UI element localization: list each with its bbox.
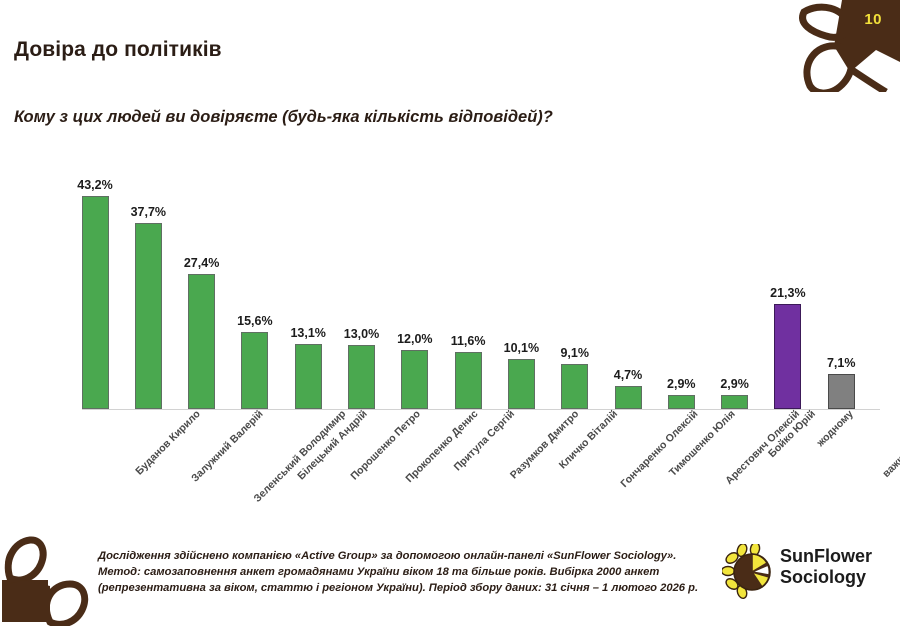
bar[interactable] xyxy=(668,395,695,409)
bar-group: 13,0% xyxy=(339,345,385,409)
bar[interactable] xyxy=(295,344,322,409)
x-axis-label: Буданов Кирило xyxy=(133,408,203,478)
sunflower-sociology-logo: SunFlower Sociology xyxy=(722,542,894,604)
bar-group: 4,7% xyxy=(605,386,651,409)
bar-group: 13,1% xyxy=(285,344,331,409)
logo-line-1: SunFlower xyxy=(780,546,872,567)
bar-group: 27,4% xyxy=(179,274,225,409)
bar-group: 2,9% xyxy=(712,395,758,409)
x-axis-label: важко відповісти xyxy=(880,408,900,480)
logo-line-2: Sociology xyxy=(780,567,872,588)
sunflower-icon xyxy=(722,544,778,600)
bar-group: 21,3% xyxy=(765,304,811,409)
bar[interactable] xyxy=(508,359,535,409)
page-title: Довіра до політиків xyxy=(14,38,222,62)
methodology-line-1: Дослідження здійснено компанією «Active … xyxy=(98,549,713,565)
methodology-line-2: Метод: самозаповнення анкет громадянами … xyxy=(98,565,713,581)
bar-group: 15,6% xyxy=(232,332,278,409)
bar-value-label: 9,1% xyxy=(542,346,608,360)
bar[interactable] xyxy=(828,374,855,409)
methodology-line-3: (репрезентативна за віком, статтю і регі… xyxy=(98,581,713,597)
bar[interactable] xyxy=(455,352,482,409)
bar[interactable] xyxy=(135,223,162,409)
bar-value-label: 21,3% xyxy=(755,286,821,300)
methodology-note: Дослідження здійснено компанією «Active … xyxy=(98,549,713,597)
chart-question-subtitle: Кому з цих людей ви довіряєте (будь-яка … xyxy=(14,108,553,127)
bar[interactable] xyxy=(82,196,109,409)
chart-plot-area: 43,2%37,7%27,4%15,6%13,1%13,0%12,0%11,6%… xyxy=(60,148,890,410)
bar-value-label: 2,9% xyxy=(702,377,768,391)
page-number: 10 xyxy=(864,11,882,28)
bar-group: 10,1% xyxy=(498,359,544,409)
x-axis-label: Арестович Олексій xyxy=(723,408,802,487)
x-axis-label: Разумков Дмитро xyxy=(508,408,581,481)
bar-group: 37,7% xyxy=(125,223,171,409)
x-axis-label: Залужний Валерій xyxy=(189,408,265,484)
corner-decoration xyxy=(790,0,900,92)
bar-chart: 43,2%37,7%27,4%15,6%13,1%13,0%12,0%11,6%… xyxy=(0,140,900,410)
bar-value-label: 27,4% xyxy=(169,256,235,270)
bar[interactable] xyxy=(721,395,748,409)
bar-group: 11,6% xyxy=(445,352,491,409)
bar[interactable] xyxy=(188,274,215,409)
x-axis-label: Тимошенко Юлія xyxy=(667,408,738,479)
bar-group: 12,0% xyxy=(392,350,438,409)
bar[interactable] xyxy=(774,304,801,409)
x-axis-label: жодному xyxy=(814,408,855,449)
bar[interactable] xyxy=(241,332,268,409)
x-axis-label: Зеленський Володимир xyxy=(251,408,348,505)
logo-wordmark: SunFlower Sociology xyxy=(780,546,872,588)
bar[interactable] xyxy=(348,345,375,409)
x-axis-category-labels: Буданов КирилоЗалужний ВалерійЗеленський… xyxy=(60,408,900,518)
bar-group: 2,9% xyxy=(658,395,704,409)
bottom-left-decoration xyxy=(0,530,100,626)
bar-group: 9,1% xyxy=(552,364,598,409)
bar-group: 7,1% xyxy=(818,374,864,409)
bar[interactable] xyxy=(615,386,642,409)
bar[interactable] xyxy=(561,364,588,409)
bar-value-label: 37,7% xyxy=(115,205,181,219)
bar-value-label: 7,1% xyxy=(808,356,874,370)
bar[interactable] xyxy=(401,350,428,409)
bar-value-label: 43,2% xyxy=(62,178,128,192)
bar-group: 43,2% xyxy=(72,196,118,409)
